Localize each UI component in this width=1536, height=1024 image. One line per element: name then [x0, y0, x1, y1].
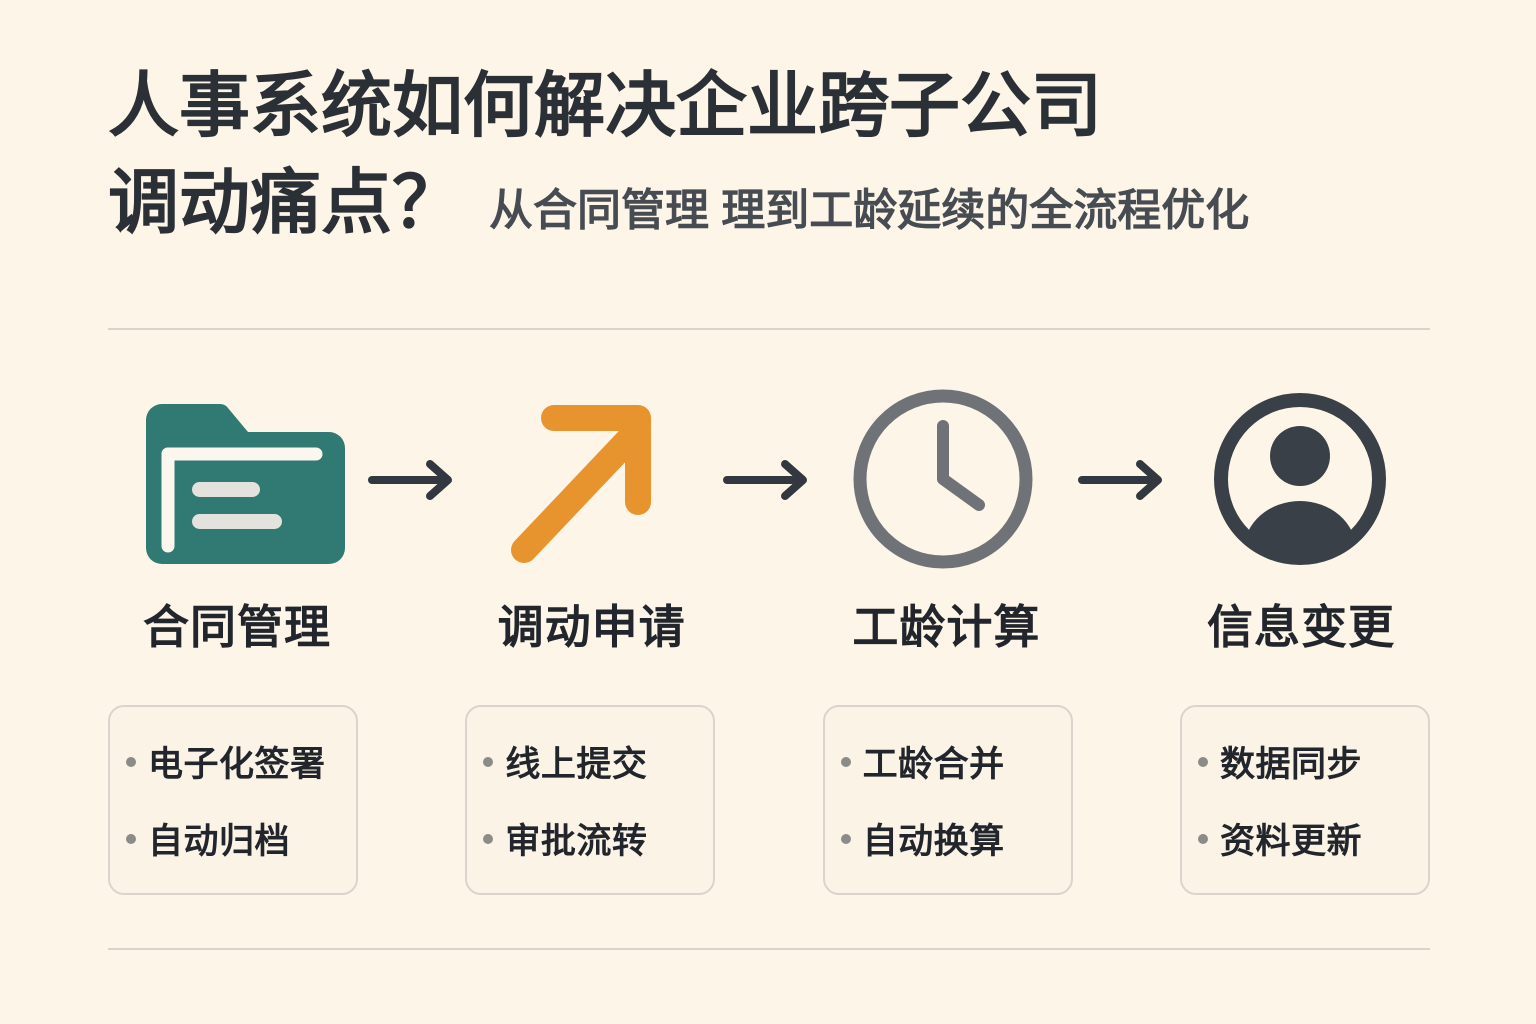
list-item: 电子化签署: [126, 736, 342, 787]
header: 人事系统如何解决企业跨子公司 调动痛点？ 从合同管理 理到工龄延续的全流程优化: [108, 58, 1438, 252]
list-item: 工龄合并: [841, 736, 1057, 787]
flow-step-information-change: 信息变更: [1172, 372, 1430, 657]
folder-icon: [130, 372, 345, 587]
bullet-dot-icon: [483, 834, 493, 844]
bullet-label: 数据同步: [1220, 736, 1362, 787]
list-item: 自动归档: [126, 813, 342, 864]
bullet-dot-icon: [841, 834, 851, 844]
arrow-right-icon: [368, 372, 460, 587]
list-item: 审批流转: [483, 813, 699, 864]
list-item: 自动换算: [841, 813, 1057, 864]
arrow-right-icon: [723, 372, 815, 587]
list-item: 资料更新: [1198, 813, 1414, 864]
flow-step-transfer-application: 调动申请: [463, 372, 721, 657]
bullet-label: 自动换算: [863, 813, 1005, 864]
detail-card-contract-management: 电子化签署 自动归档: [108, 705, 358, 895]
bullet-dot-icon: [1198, 757, 1208, 767]
bullet-label: 线上提交: [505, 736, 647, 787]
detail-cards: 电子化签署 自动归档 线上提交 审批流转 工龄合并: [108, 705, 1430, 895]
arrow-right-icon: [1078, 372, 1170, 587]
bullet-label: 自动归档: [148, 813, 290, 864]
bullet-label: 电子化签署: [148, 736, 326, 787]
bullet-dot-icon: [126, 834, 136, 844]
bullet-dot-icon: [483, 757, 493, 767]
flow-step-label: 调动申请: [498, 591, 686, 657]
list-item: 线上提交: [483, 736, 699, 787]
process-flow: 合同管理 调动申请: [108, 372, 1430, 657]
flow-step-label: 信息变更: [1207, 591, 1395, 657]
bullet-label: 资料更新: [1220, 813, 1362, 864]
divider-top: [108, 328, 1430, 330]
clock-icon: [839, 372, 1054, 587]
page-subtitle: 从合同管理 理到工龄延续的全流程优化: [489, 182, 1249, 252]
detail-card-seniority-calculation: 工龄合并 自动换算: [823, 705, 1073, 895]
user-circle-icon: [1193, 372, 1408, 587]
page-title-line-1: 人事系统如何解决企业跨子公司: [108, 58, 1438, 155]
flow-step-label: 合同管理: [143, 591, 331, 657]
page-title-line-2: 调动痛点？: [108, 155, 463, 252]
trending-up-arrow-icon: [484, 372, 699, 587]
list-item: 数据同步: [1198, 736, 1414, 787]
title-subtitle-row: 调动痛点？ 从合同管理 理到工龄延续的全流程优化: [108, 155, 1438, 252]
bullet-dot-icon: [1198, 834, 1208, 844]
bullet-dot-icon: [841, 757, 851, 767]
flow-step-contract-management: 合同管理: [108, 372, 366, 657]
flow-step-label: 工龄计算: [852, 591, 1040, 657]
detail-card-information-change: 数据同步 资料更新: [1180, 705, 1430, 895]
bullet-dot-icon: [126, 757, 136, 767]
detail-card-transfer-application: 线上提交 审批流转: [465, 705, 715, 895]
divider-bottom: [108, 948, 1430, 950]
infographic-page: 人事系统如何解决企业跨子公司 调动痛点？ 从合同管理 理到工龄延续的全流程优化 …: [0, 0, 1536, 1024]
bullet-label: 审批流转: [505, 813, 647, 864]
flow-step-seniority-calculation: 工龄计算: [817, 372, 1075, 657]
bullet-label: 工龄合并: [863, 736, 1005, 787]
